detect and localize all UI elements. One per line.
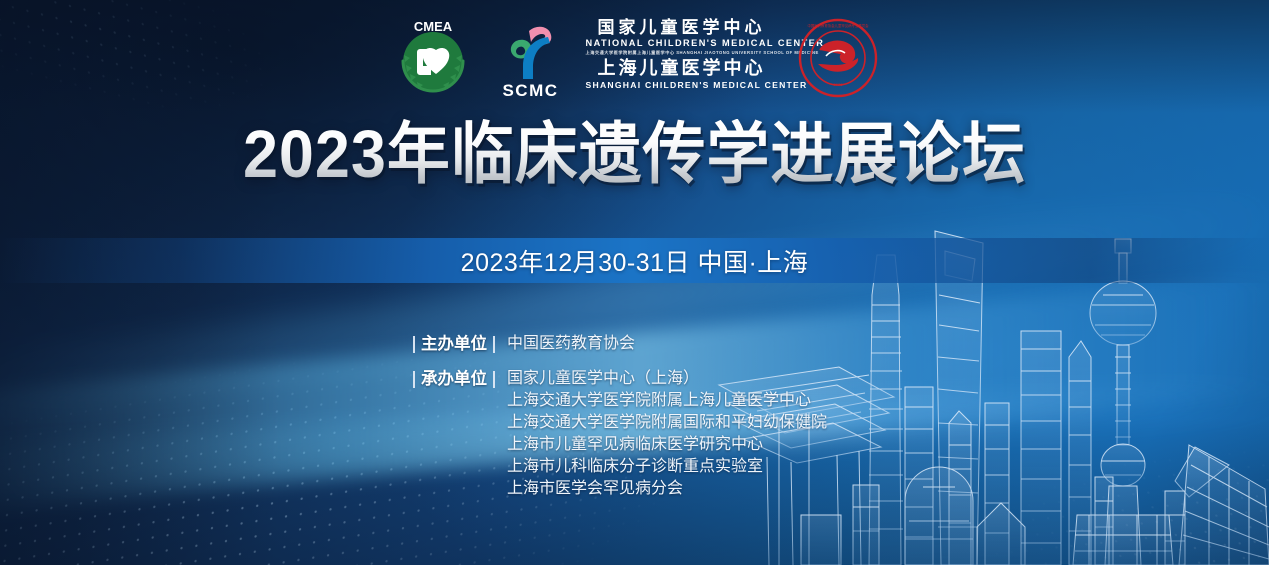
coorganizer-value-4: 上海市儿科临床分子诊断重点实验室 xyxy=(507,456,827,478)
sponsor-logo-row: CMEA SCMC 国家儿童医学中心 NATIONAL CHILDREN'S M… xyxy=(0,12,1269,104)
host-values: 中国医药教育协会 xyxy=(507,333,635,355)
coorganizer-value-0: 国家儿童医学中心（上海） xyxy=(507,368,827,390)
conference-banner: CMEA SCMC 国家儿童医学中心 NATIONAL CHILDREN'S M… xyxy=(0,0,1269,565)
coorganizer-value-3: 上海市儿童罕见病临床医学研究中心 xyxy=(507,434,827,456)
scmc-english-name: SHANGHAI CHILDREN'S MEDICAL CENTER xyxy=(586,81,778,90)
scmc-chinese-name: 上海儿童医学中心 xyxy=(586,59,778,77)
coorganizer-value-1: 上海交通大学医学院附属上海儿童医学中心 xyxy=(507,390,827,412)
coorganizer-values: 国家儿童医学中心（上海） 上海交通大学医学院附属上海儿童医学中心 上海交通大学医… xyxy=(507,368,827,500)
national-childrens-medical-center-logo: 国家儿童医学中心 NATIONAL CHILDREN'S MEDICAL CEN… xyxy=(586,19,778,97)
coorganizer-value-2: 上海交通大学医学院附属国际和平妇幼保健院 xyxy=(507,412,827,434)
host-organization-block: 主办单位 中国医药教育协会 xyxy=(413,333,827,355)
pipe-right-icon xyxy=(493,371,495,388)
coorganizer-label: 承办单位 xyxy=(421,368,487,390)
nmc-affiliation-line: 上海交通大学医学院附属上海儿童医学中心 SHANGHAI JIAOTONG UN… xyxy=(586,51,778,55)
pipe-left-icon xyxy=(413,371,415,388)
svg-text:2021: 2021 xyxy=(833,82,843,87)
nmc-english-name: NATIONAL CHILDREN'S MEDICAL CENTER xyxy=(586,39,778,48)
host-value-0: 中国医药教育协会 xyxy=(507,333,635,355)
scmc-abbr-text: SCMC xyxy=(494,82,568,99)
svg-text:中国医药教育协会儿童罕见病专业委员会: 中国医药教育协会儿童罕见病专业委员会 xyxy=(807,23,869,28)
pipe-left-icon xyxy=(413,336,415,353)
pipe-right-icon xyxy=(493,336,495,353)
organizer-section: 主办单位 中国医药教育协会 承办单位 国家儿童医学中心（上海） 上海交通大学医学… xyxy=(413,333,827,500)
cmea-logo: CMEA xyxy=(390,15,476,101)
exhibition-hall-right xyxy=(1175,445,1269,565)
date-location-text: 2023年12月30-31日 中国·上海 xyxy=(461,243,809,279)
page-title: 2023年临床遗传学进展论坛 xyxy=(38,119,1231,191)
red-seal-logo: 中国医药教育协会儿童罕见病专业委员会 2021 xyxy=(796,16,880,100)
coorganizer-value-5: 上海市医学会罕见病分会 xyxy=(507,478,827,500)
cmea-abbr-text: CMEA xyxy=(413,19,452,34)
host-label-group: 主办单位 xyxy=(413,333,495,355)
date-location-band: 2023年12月30-31日 中国·上海 xyxy=(0,238,1269,283)
scmc-logo: SCMC xyxy=(494,17,568,99)
coorganizer-block: 承办单位 国家儿童医学中心（上海） 上海交通大学医学院附属上海儿童医学中心 上海… xyxy=(413,368,827,500)
nmc-chinese-name: 国家儿童医学中心 xyxy=(586,19,778,36)
host-label: 主办单位 xyxy=(421,333,487,355)
coorganizer-label-group: 承办单位 xyxy=(413,368,495,390)
